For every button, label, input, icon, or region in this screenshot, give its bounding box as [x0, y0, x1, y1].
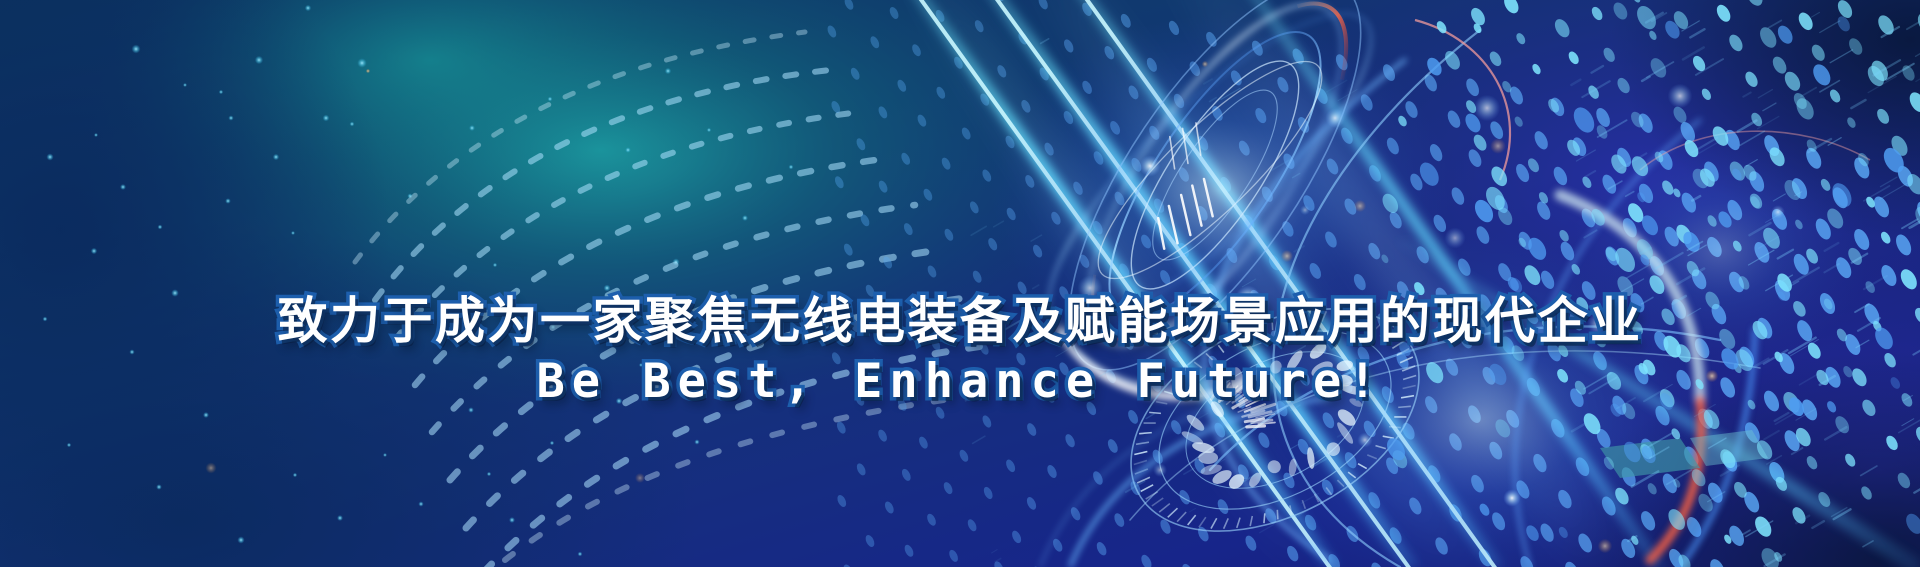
hero-banner: 致力于成为一家聚焦无线电装备及赋能场景应用的现代企业 Be Best, Enha… — [0, 0, 1920, 567]
dash-streaks — [0, 0, 1920, 567]
